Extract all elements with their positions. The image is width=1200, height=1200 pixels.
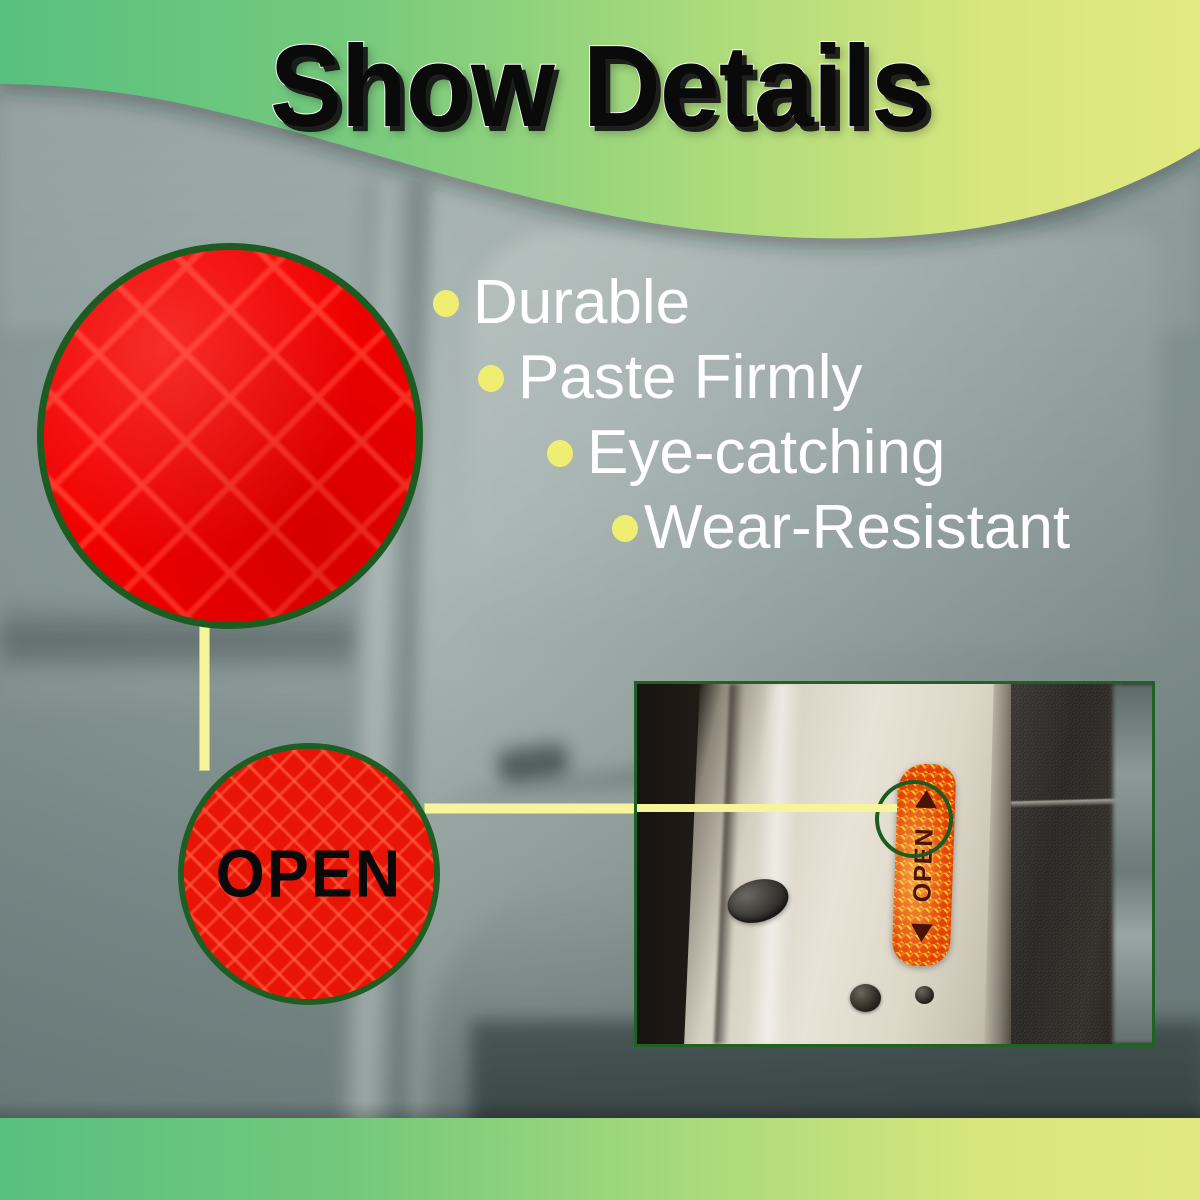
photo-door-bolt-large (850, 984, 881, 1012)
marketing-card: Show Details Durable Paste Firmly Eye-ca… (0, 0, 1200, 1200)
open-sticker-closeup: OPEN (178, 743, 440, 1005)
photo-connector-line (637, 804, 897, 812)
photo-background-blur (1113, 684, 1155, 1044)
photo-rubber-trim (1011, 684, 1121, 1044)
footer-gradient-bar (0, 1118, 1200, 1200)
bullet-dot-icon (433, 290, 459, 317)
feature-item-durable: Durable (433, 270, 1200, 337)
connector-line-vertical (200, 620, 209, 770)
feature-label: Paste Firmly (518, 345, 862, 412)
photo-highlight-ring (875, 780, 953, 858)
connector-line-horizontal (425, 804, 660, 813)
photo-door-bolt-small (915, 986, 934, 1004)
bullet-dot-icon (612, 515, 638, 542)
feature-item-wear-resistant: Wear-Resistant (612, 495, 1200, 562)
feature-item-eye-catching: Eye-catching (547, 420, 1200, 487)
reflective-texture-closeup (37, 243, 423, 629)
footer-bar-shadow (0, 1102, 1200, 1118)
open-sticker-label: OPEN (216, 836, 403, 912)
car-door-application-photo: OPEN (634, 681, 1155, 1047)
feature-item-paste-firmly: Paste Firmly (478, 345, 1200, 412)
page-title: Show Details (42, 28, 1158, 144)
triangle-arrow-icon (910, 924, 933, 943)
feature-label: Wear-Resistant (644, 495, 1070, 562)
bullet-dot-icon (478, 365, 504, 392)
feature-label: Durable (473, 270, 690, 337)
gloss-overlay (44, 250, 416, 622)
feature-label: Eye-catching (587, 420, 945, 487)
bullet-dot-icon (547, 440, 573, 467)
